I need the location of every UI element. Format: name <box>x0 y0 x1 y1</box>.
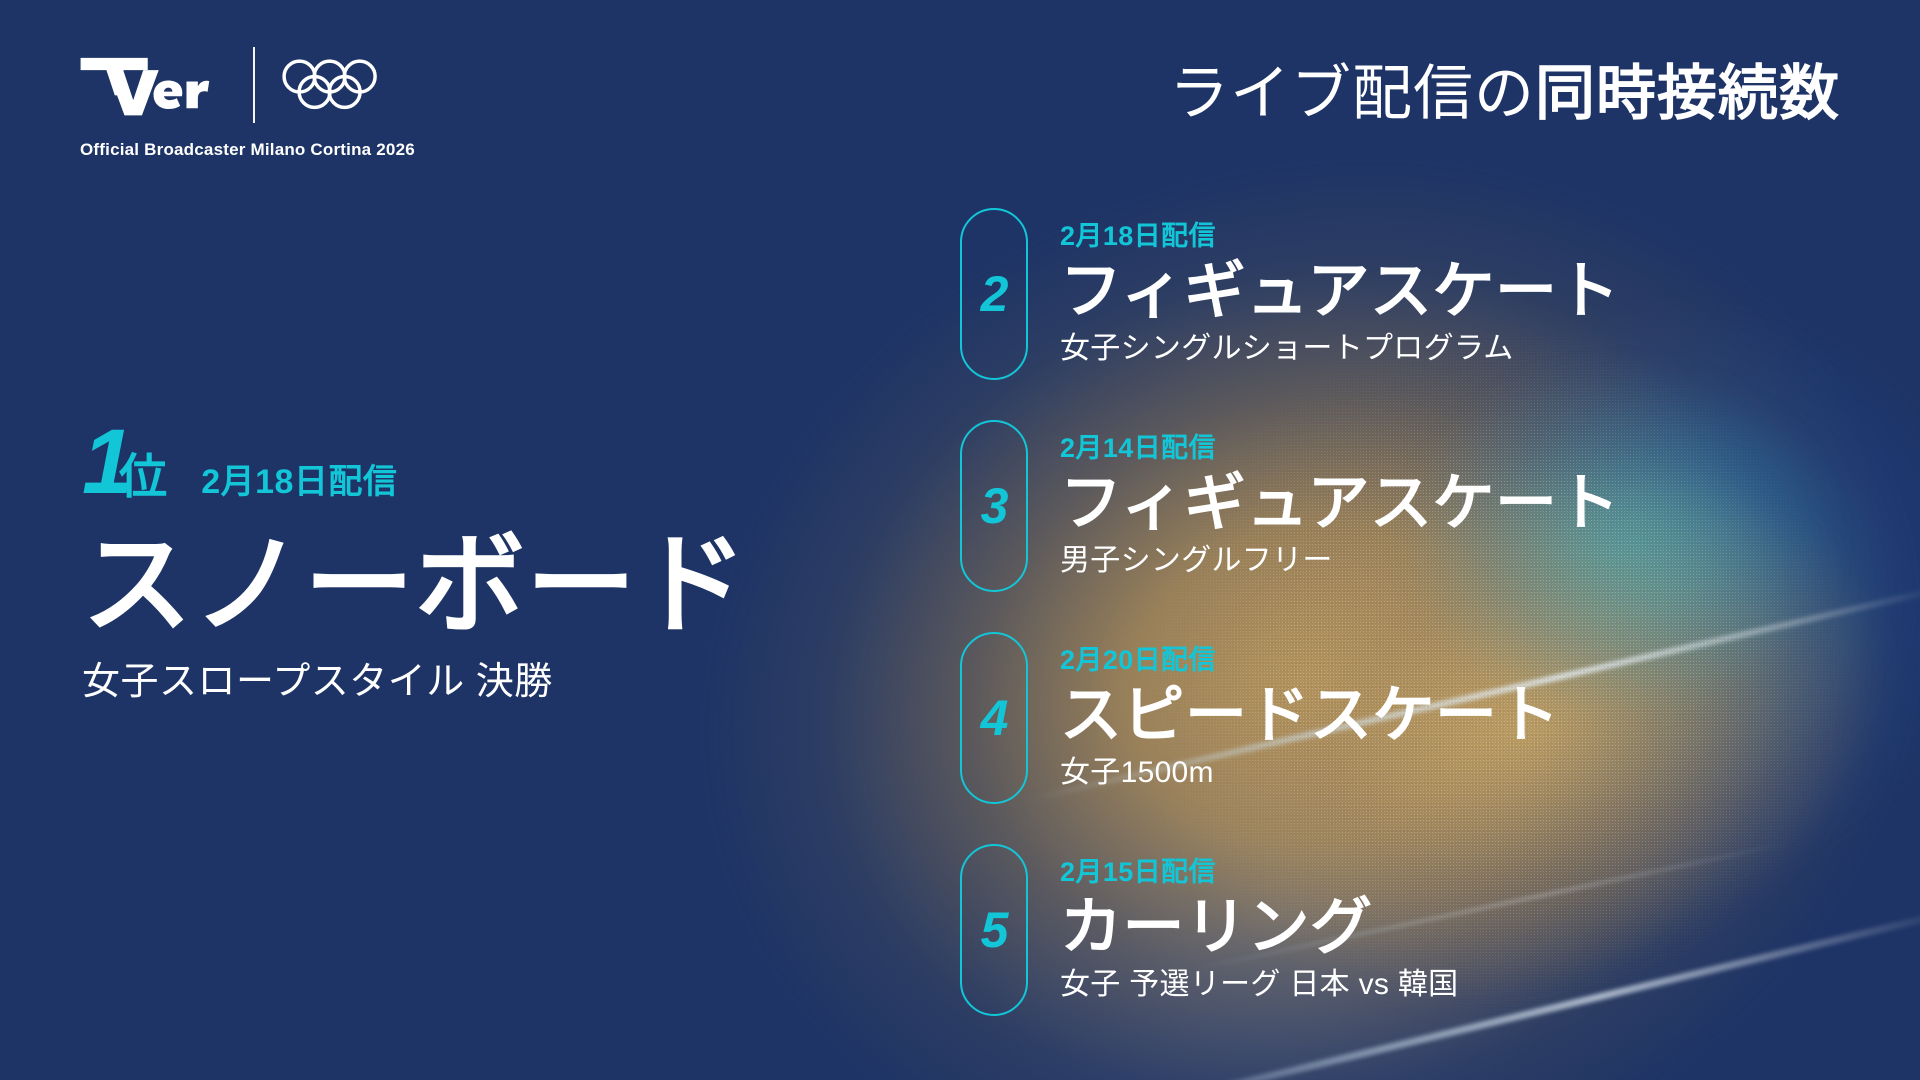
rank-list-item: 2 2月18日配信 フィギュアスケート 女子シングルショートプログラム <box>960 206 1860 382</box>
rank-badge: 4 <box>960 632 1028 804</box>
rank-item-title: フィギュアスケート <box>1060 470 1620 538</box>
rank-item-date: 2月14日配信 <box>1060 434 1620 464</box>
brand-logo-block: Official Broadcaster Milano Cortina 2026 <box>78 44 415 160</box>
rank-item-date: 2月15日配信 <box>1060 858 1458 888</box>
official-broadcaster-label: Official Broadcaster Milano Cortina 2026 <box>78 140 415 160</box>
rank-list-item: 3 2月14日配信 フィギュアスケート 男子シングルフリー <box>960 418 1860 594</box>
rank-1-number-group: 1位 <box>82 420 167 505</box>
rank-badge-number: 5 <box>981 905 1008 955</box>
rank-list-item: 4 2月20日配信 スピードスケート 女子1500m <box>960 630 1860 806</box>
vertical-divider <box>253 47 255 123</box>
rank-item-date: 2月18日配信 <box>1060 222 1620 252</box>
rank-1-title: スノーボード <box>82 527 902 646</box>
rank-badge-number: 4 <box>981 693 1008 743</box>
tver-wordmark-icon <box>78 54 227 116</box>
rank-item-body: 2月14日配信 フィギュアスケート 男子シングルフリー <box>1060 434 1620 578</box>
rank-item-subtitle: 男子シングルフリー <box>1060 544 1620 579</box>
rank-item-title: スピードスケート <box>1060 682 1560 750</box>
rank-item-subtitle: 女子1500m <box>1060 756 1560 791</box>
rank-item-body: 2月20日配信 スピードスケート 女子1500m <box>1060 646 1560 790</box>
page-title-bold-part: 同時接続数 <box>1535 60 1840 127</box>
rank-item-title: フィギュアスケート <box>1060 258 1620 326</box>
page-title-light-part: ライブ配信の <box>1169 60 1535 127</box>
rank-badge-number: 2 <box>981 269 1008 319</box>
rank-item-title: カーリング <box>1060 894 1458 962</box>
olympic-rings-icon <box>281 58 397 112</box>
rank-item-subtitle: 女子 予選リーグ 日本 vs 韓国 <box>1060 968 1458 1003</box>
rank-badge-number: 3 <box>981 481 1008 531</box>
ranking-slide: Official Broadcaster Milano Cortina 2026… <box>0 0 1920 1080</box>
rank-1-date: 2月18日配信 <box>201 454 397 503</box>
rank-badge: 3 <box>960 420 1028 592</box>
rank-1-suffix: 位 <box>119 451 167 504</box>
rank-item-subtitle: 女子シングルショートプログラム <box>1060 332 1620 367</box>
rank-badge: 2 <box>960 208 1028 380</box>
rank-item-body: 2月15日配信 カーリング 女子 予選リーグ 日本 vs 韓国 <box>1060 858 1458 1002</box>
rank-list: 2 2月18日配信 フィギュアスケート 女子シングルショートプログラム 3 2月… <box>960 206 1860 1018</box>
page-title: ライブ配信の同時接続数 <box>1169 62 1840 125</box>
rank-badge: 5 <box>960 844 1028 1016</box>
rank-1-subtitle: 女子スロープスタイル 決勝 <box>82 659 902 707</box>
rank-item-date: 2月20日配信 <box>1060 646 1560 676</box>
logo-row <box>78 44 415 126</box>
rank-list-item: 5 2月15日配信 カーリング 女子 予選リーグ 日本 vs 韓国 <box>960 842 1860 1018</box>
rank-item-body: 2月18日配信 フィギュアスケート 女子シングルショートプログラム <box>1060 222 1620 366</box>
rank-1-hero: 1位 2月18日配信 スノーボード 女子スロープスタイル 決勝 <box>82 420 902 707</box>
rank-1-header: 1位 2月18日配信 <box>82 420 902 505</box>
